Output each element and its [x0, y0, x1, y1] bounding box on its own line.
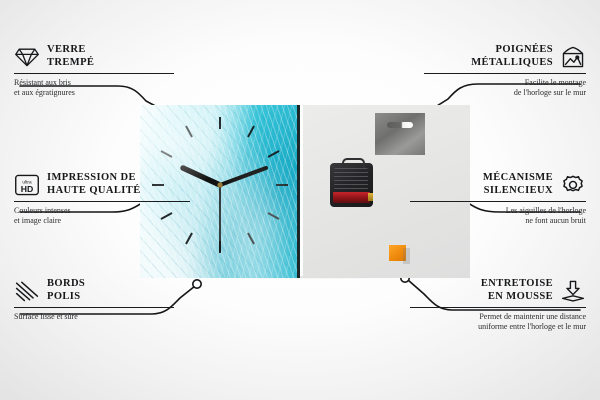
callout-rule — [14, 307, 174, 308]
callout-title: POIGNÉES MÉTALLIQUES — [471, 44, 553, 69]
callout-rule — [410, 307, 586, 308]
callout-title: ENTRETOISE EN MOUSSE — [481, 278, 553, 303]
picture-frame-icon — [560, 45, 586, 69]
diamond-icon — [14, 45, 40, 69]
metal-hanger-plate — [375, 113, 425, 155]
callout-title: VERRE TREMPÉ — [47, 44, 94, 69]
infographic-canvas: VERRE TREMPÉ Résistant aux bris et aux é… — [0, 0, 600, 400]
callout-rule — [424, 73, 586, 74]
ultra-hd-icon: ultra HD — [14, 173, 40, 197]
svg-text:HD: HD — [21, 183, 34, 193]
aa-battery — [333, 192, 370, 203]
callout-rule — [410, 201, 586, 202]
callout-description: Facilite le montage de l'horloge sur le … — [424, 78, 586, 97]
callout-description: Couleurs intenses et image claire — [14, 206, 190, 225]
callout-description: Permet de maintenir une distance uniform… — [410, 312, 586, 331]
callout-description: Résistant aux bris et aux égratignures — [14, 78, 174, 97]
callout-glass: VERRE TREMPÉ Résistant aux bris et aux é… — [14, 44, 174, 97]
callout-print: ultra HD IMPRESSION DE HAUTE QUALITÉ Cou… — [14, 172, 190, 225]
callout-rule — [14, 73, 174, 74]
foam-spacer — [389, 245, 406, 261]
callout-edges: BORDS POLIS Surface lisse et sûre — [14, 278, 174, 322]
callout-title: IMPRESSION DE HAUTE QUALITÉ — [47, 172, 141, 197]
polished-edge-icon — [14, 279, 40, 303]
gear-icon — [560, 173, 586, 197]
callout-rule — [14, 201, 190, 202]
foam-spacer-arrow-icon — [560, 279, 586, 303]
callout-title: MÉCANISME SILENCIEUX — [483, 172, 553, 197]
mechanism-grille — [334, 168, 368, 190]
callout-mechanism: MÉCANISME SILENCIEUX Les aiguilles de l'… — [410, 172, 586, 225]
callout-title: BORDS POLIS — [47, 278, 85, 303]
callout-handles: POIGNÉES MÉTALLIQUES Facilite le montage… — [424, 44, 586, 97]
callout-description: Surface lisse et sûre — [14, 312, 174, 322]
callout-spacer: ENTRETOISE EN MOUSSE Permet de maintenir… — [410, 278, 586, 331]
quartz-mechanism-box — [330, 163, 373, 207]
callout-description: Les aiguilles de l'horloge ne font aucun… — [410, 206, 586, 225]
